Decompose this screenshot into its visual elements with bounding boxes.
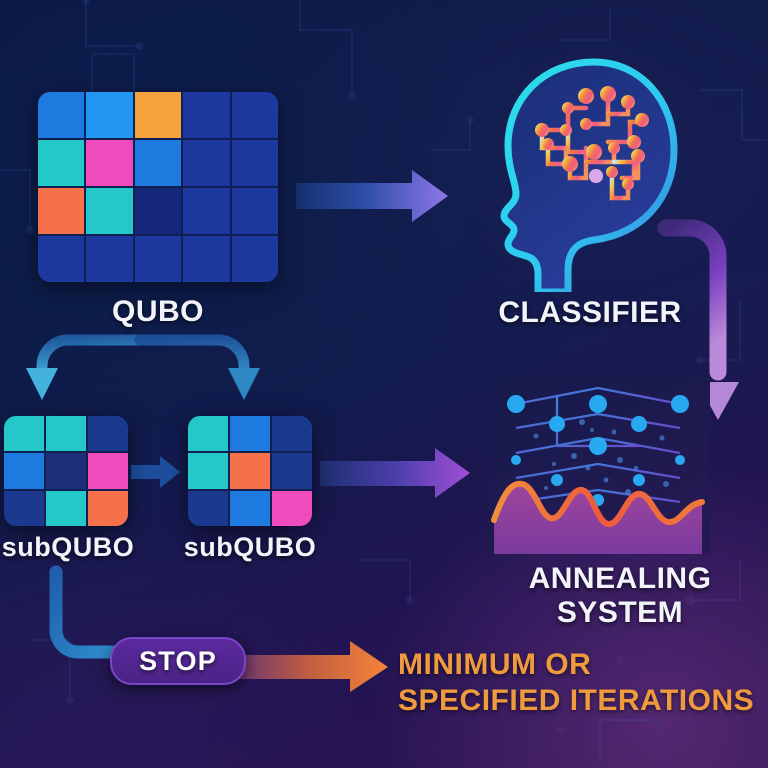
annealing-label: ANNEALING SYSTEM [470, 562, 768, 629]
qubo-cell-r0-c0 [38, 92, 84, 138]
subqubo-1-cell-r2-c1 [46, 491, 86, 526]
qubo-cell-r3-c1 [86, 236, 132, 282]
qubo-cell-r3-c3 [183, 236, 229, 282]
classifier-label: CLASSIFIER [460, 296, 720, 330]
subqubo-1-cell-r0-c1 [46, 416, 86, 451]
subqubo-2-cell-r2-c0 [188, 491, 228, 526]
subqubo-1-matrix[interactable] [4, 416, 128, 526]
stop-button[interactable]: STOP [110, 637, 246, 685]
qubo-cell-r2-c4 [232, 188, 278, 234]
qubo-cell-r2-c0 [38, 188, 84, 234]
qubo-cell-r3-c2 [135, 236, 181, 282]
subqubo-1-cell-r1-c1 [46, 453, 86, 488]
qubo-cell-r1-c3 [183, 140, 229, 186]
subqubo-2-cell-r0-c1 [230, 416, 270, 451]
subqubo-2-cell-r2-c1 [230, 491, 270, 526]
edge-subqubo-2-to-annealing [320, 448, 470, 498]
subqubo-2-cell-r1-c0 [188, 453, 228, 488]
subqubo-2-cell-r0-c2 [272, 416, 312, 451]
subqubo-1-cell-r1-c0 [4, 453, 44, 488]
subqubo-2-matrix[interactable] [188, 416, 312, 526]
result-line-2: SPECIFIED ITERATIONS [398, 684, 768, 718]
qubo-cell-r1-c1 [86, 140, 132, 186]
qubo-cell-r0-c4 [232, 92, 278, 138]
subqubo-1-cell-r0-c2 [88, 416, 128, 451]
subqubo-1-label: subQUBO [0, 532, 138, 563]
edge-stop-to-result [236, 641, 388, 692]
edge-subqubo-to-stop [56, 572, 118, 652]
qubo-label: QUBO [38, 295, 278, 329]
edge-qubo-to-subqubo-1 [26, 340, 138, 400]
qubo-cell-r3-c0 [38, 236, 84, 282]
subqubo-2-cell-r2-c2 [272, 491, 312, 526]
subqubo-2-cell-r1-c1 [230, 453, 270, 488]
qubo-matrix[interactable] [38, 92, 278, 282]
qubo-cell-r1-c4 [232, 140, 278, 186]
qubo-cell-r1-c2 [135, 140, 181, 186]
subqubo-2-cell-r0-c0 [188, 416, 228, 451]
qubo-cell-r1-c0 [38, 140, 84, 186]
qubo-cell-r0-c2 [135, 92, 181, 138]
qubo-cell-r3-c4 [232, 236, 278, 282]
lattice-cube-energy-landscape-icon [486, 372, 710, 554]
qubo-cell-r0-c3 [183, 92, 229, 138]
edge-subqubo-1-to-subqubo-2 [131, 456, 180, 488]
subqubo-1-cell-r0-c0 [4, 416, 44, 451]
edge-qubo-to-classifier [296, 170, 448, 222]
subqubo-1-cell-r2-c0 [4, 491, 44, 526]
subqubo-1-cell-r1-c2 [88, 453, 128, 488]
qubo-cell-r2-c2 [135, 188, 181, 234]
subqubo-1-cell-r2-c2 [88, 491, 128, 526]
subqubo-2-label: subQUBO [180, 532, 320, 563]
head-circuit-brain-icon [482, 52, 697, 292]
diagram-canvas: QUBO [0, 0, 768, 768]
qubo-cell-r2-c1 [86, 188, 132, 234]
qubo-cell-r0-c1 [86, 92, 132, 138]
stop-button-label: STOP [139, 646, 217, 677]
subqubo-2-cell-r1-c2 [272, 453, 312, 488]
edge-qubo-to-subqubo-2 [140, 340, 260, 400]
qubo-cell-r2-c3 [183, 188, 229, 234]
result-line-1: MINIMUM OR [398, 648, 758, 682]
